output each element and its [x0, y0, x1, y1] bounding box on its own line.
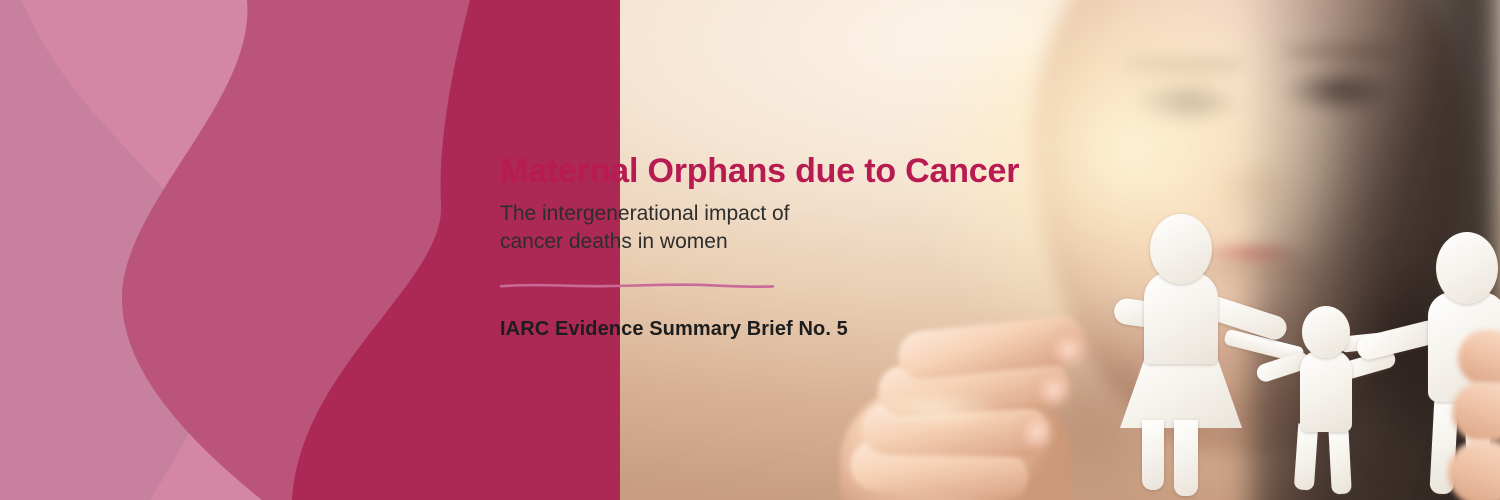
right-finger-middle	[1452, 382, 1500, 442]
page-subtitle: The intergenerational impact of cancer d…	[500, 200, 840, 255]
headline-block: Maternal Orphans due to Cancer The inter…	[500, 152, 1060, 341]
paper-child-head	[1302, 306, 1350, 358]
paper-figure-child	[1272, 306, 1382, 496]
divider	[500, 278, 775, 288]
paper-woman-head	[1150, 214, 1212, 284]
paper-child-leg-left	[1294, 423, 1319, 490]
iarc-evidence-brief-banner: Maternal Orphans due to Cancer The inter…	[0, 0, 1500, 500]
hand-drawn-wavy-rule-icon	[500, 281, 775, 291]
page-title: Maternal Orphans due to Cancer	[500, 152, 1060, 190]
right-finger-upper	[1458, 330, 1500, 386]
paper-child-leg-right	[1328, 424, 1352, 495]
paper-man-head	[1436, 232, 1498, 304]
right-finger-lower	[1448, 440, 1500, 500]
paper-woman-leg-left	[1142, 420, 1164, 490]
subtitle-line-2: cancer deaths in women	[500, 230, 728, 253]
paper-woman-torso	[1144, 272, 1218, 364]
hand-holding-paper-chain	[840, 318, 1120, 500]
paper-woman-leg-right	[1174, 420, 1198, 496]
paper-figure-woman	[1110, 214, 1250, 484]
subtitle-line-1: The intergenerational impact of	[500, 202, 790, 225]
paper-child-torso	[1300, 350, 1352, 432]
hand-highlight	[850, 388, 1020, 428]
brief-label: IARC Evidence Summary Brief No. 5	[500, 318, 1060, 341]
fingernail-middle	[1032, 368, 1076, 412]
fingernail-ring	[1016, 410, 1058, 454]
right-hand-fingers	[1448, 330, 1500, 500]
